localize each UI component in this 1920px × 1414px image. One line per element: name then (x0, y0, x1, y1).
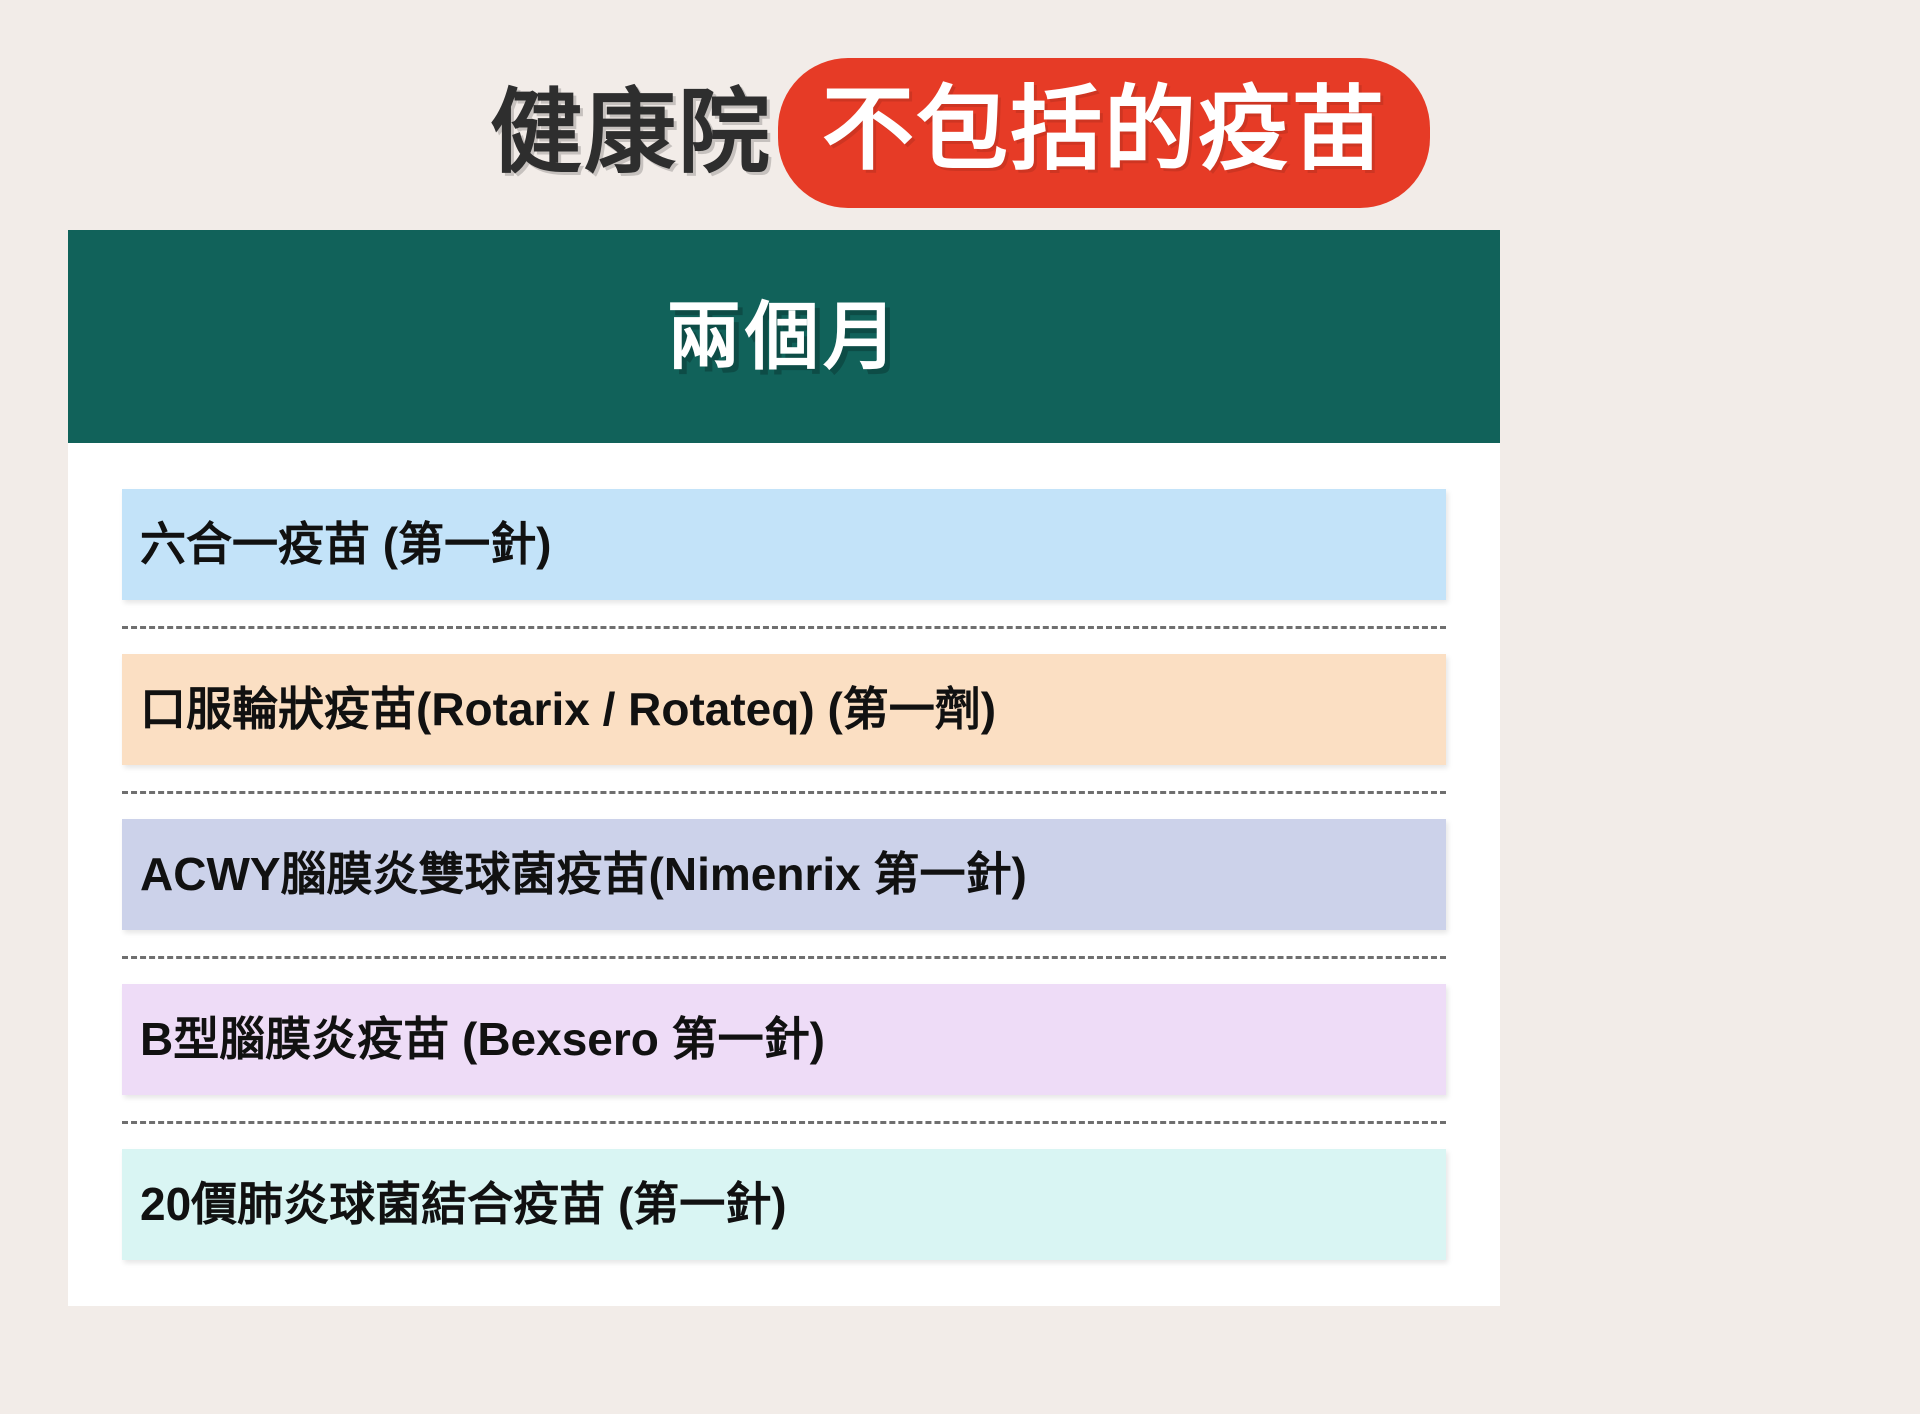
vaccine-row: 口服輪狀疫苗(Rotarix / Rotateq) (第一劑) (122, 654, 1446, 765)
vaccine-row: B型腦膜炎疫苗 (Bexsero 第一針) (122, 984, 1446, 1095)
card-header-label: 兩個月 (667, 300, 901, 374)
page-title: 健康院 不包括的疫苗 (0, 58, 1920, 208)
page-title-highlight-pill: 不包括的疫苗 (778, 58, 1430, 208)
vaccine-row-label: 六合一疫苗 (第一針) (140, 519, 551, 570)
vaccine-row-label: ACWY腦膜炎雙球菌疫苗(Nimenrix 第一針) (140, 849, 1027, 900)
poster-canvas: 健康院 不包括的疫苗 兩個月 六合一疫苗 (第一針) 口服輪狀疫苗(Rotari… (0, 0, 1920, 1414)
row-divider (122, 765, 1446, 819)
card-header: 兩個月 (68, 230, 1500, 443)
vaccine-row-label: 口服輪狀疫苗(Rotarix / Rotateq) (第一劑) (140, 684, 996, 735)
page-title-plain: 健康院 (490, 87, 778, 179)
vaccine-row-label: 20價肺炎球菌結合疫苗 (第一針) (140, 1179, 787, 1230)
vaccine-row: 20價肺炎球菌結合疫苗 (第一針) (122, 1149, 1446, 1260)
row-divider (122, 1095, 1446, 1149)
vaccine-card: 兩個月 六合一疫苗 (第一針) 口服輪狀疫苗(Rotarix / Rotateq… (68, 230, 1500, 1306)
card-body: 六合一疫苗 (第一針) 口服輪狀疫苗(Rotarix / Rotateq) (第… (68, 443, 1500, 1306)
row-divider (122, 930, 1446, 984)
vaccine-row: ACWY腦膜炎雙球菌疫苗(Nimenrix 第一針) (122, 819, 1446, 930)
vaccine-row: 六合一疫苗 (第一針) (122, 489, 1446, 600)
row-divider (122, 600, 1446, 654)
vaccine-row-label: B型腦膜炎疫苗 (Bexsero 第一針) (140, 1014, 825, 1065)
